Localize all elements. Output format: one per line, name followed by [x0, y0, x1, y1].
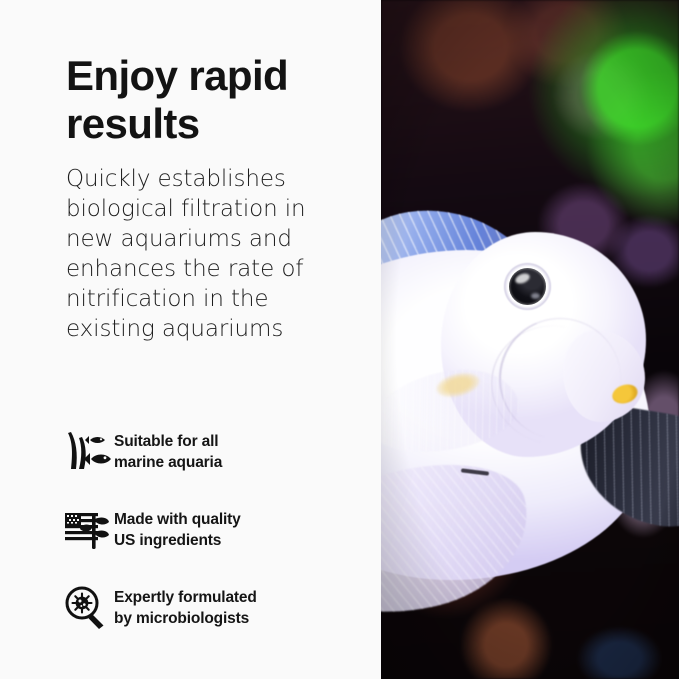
feature-list: Suitable for all marine aquaria: [62, 422, 362, 638]
fish-eye-highlight-2: [531, 293, 540, 299]
seaweed-fish-icon: [62, 426, 114, 478]
us-flag-plant-icon: [62, 504, 114, 556]
product-photo-fish: [381, 0, 679, 679]
product-feature-panel: Enjoy rapid results Quickly establishes …: [0, 0, 679, 679]
feature-label: Made with quality US ingredients: [114, 509, 241, 551]
feature-item-microbiologists: Expertly formulated by microbiologists: [62, 578, 362, 638]
page-title: Enjoy rapid results: [66, 52, 366, 148]
magnifier-microbe-icon: [62, 582, 114, 634]
feature-item-us-ingredients: Made with quality US ingredients: [62, 500, 362, 560]
feature-label: Expertly formulated by microbiologists: [114, 587, 257, 629]
feature-item-marine-aquaria: Suitable for all marine aquaria: [62, 422, 362, 482]
description-paragraph: Quickly establishes biological filtratio…: [66, 164, 356, 344]
left-text-panel: Enjoy rapid results Quickly establishes …: [0, 0, 381, 679]
feature-label: Suitable for all marine aquaria: [114, 431, 222, 473]
